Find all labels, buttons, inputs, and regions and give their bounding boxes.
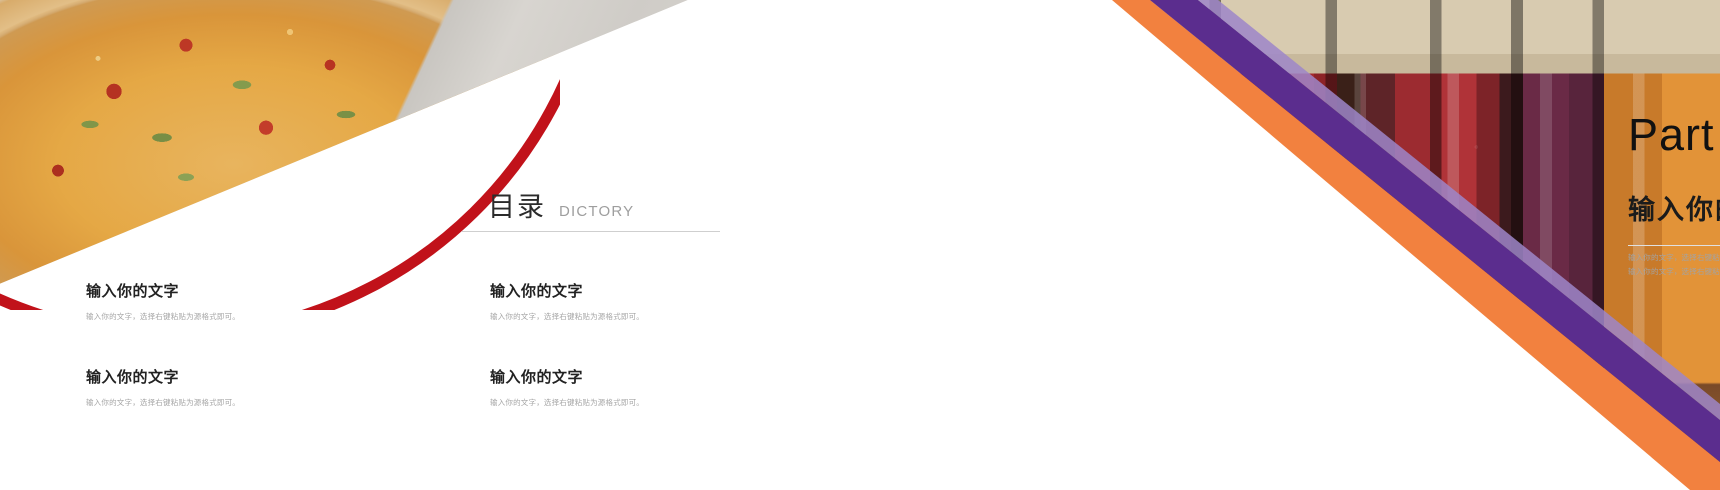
toc-item-body: 输入你的文字，选择右键粘贴为源格式即可。 [86, 398, 490, 407]
toc-item-body: 输入你的文字，选择右键粘贴为源格式即可。 [490, 312, 726, 321]
toc-item-body: 输入你的文字，选择右键粘贴为源格式即可。 [86, 312, 490, 321]
slide-deck: 目录 DICTORY 输入你的文字 输入你的文字，选择右键粘贴为源格式即可。 输… [0, 0, 1720, 490]
title-divider [462, 231, 720, 232]
section-divider-line [1628, 245, 1720, 246]
section-heading: 输入你的文字 [1628, 196, 1720, 226]
toc-item-4[interactable]: 输入你的文字 输入你的文字，选择右键粘贴为源格式即可。 [490, 369, 726, 407]
toc-item-grid: 输入你的文字 输入你的文字，选择右键粘贴为源格式即可。 输入你的文字 输入你的文… [86, 283, 726, 407]
pizza-photo-mask [0, 0, 770, 296]
part-label: Part 01 [1628, 112, 1720, 157]
toc-item-1[interactable]: 输入你的文字 输入你的文字，选择右键粘贴为源格式即可。 [86, 283, 490, 321]
toc-title-row: 目录 DICTORY [488, 194, 634, 221]
toc-item-heading: 输入你的文字 [86, 369, 490, 387]
slide-section-divider[interactable]: Part 01 输入你的文字 输入你的文字，选择右键粘贴为源格式即可。输入你的文… [790, 0, 1720, 490]
slide-table-of-contents[interactable]: 目录 DICTORY 输入你的文字 输入你的文字，选择右键粘贴为源格式即可。 输… [0, 0, 784, 490]
section-body: 输入你的文字，选择右键粘贴为源格式即可。输入你的文字，选择右键粘贴为源格式 输入… [1628, 251, 1720, 279]
section-body-line-1: 输入你的文字，选择右键粘贴为源格式即可。输入你的文字，选择右键粘贴为源格式 [1628, 251, 1720, 265]
toc-item-heading: 输入你的文字 [86, 283, 490, 301]
section-body-line-2: 输入你的文字，选择右键粘贴为源格式即可。输入你的文字，选择右键粘贴为源格式即可。 [1628, 265, 1720, 279]
toc-item-heading: 输入你的文字 [490, 283, 726, 301]
toc-item-body: 输入你的文字，选择右键粘贴为源格式即可。 [490, 398, 726, 407]
toc-item-3[interactable]: 输入你的文字 输入你的文字，选择右键粘贴为源格式即可。 [86, 369, 490, 407]
pizza-photo [0, 0, 770, 296]
toc-item-2[interactable]: 输入你的文字 输入你的文字，选择右键粘贴为源格式即可。 [490, 283, 726, 321]
page-subtitle: DICTORY [559, 204, 634, 221]
page-title: 目录 [488, 194, 546, 221]
toc-item-heading: 输入你的文字 [490, 369, 726, 387]
